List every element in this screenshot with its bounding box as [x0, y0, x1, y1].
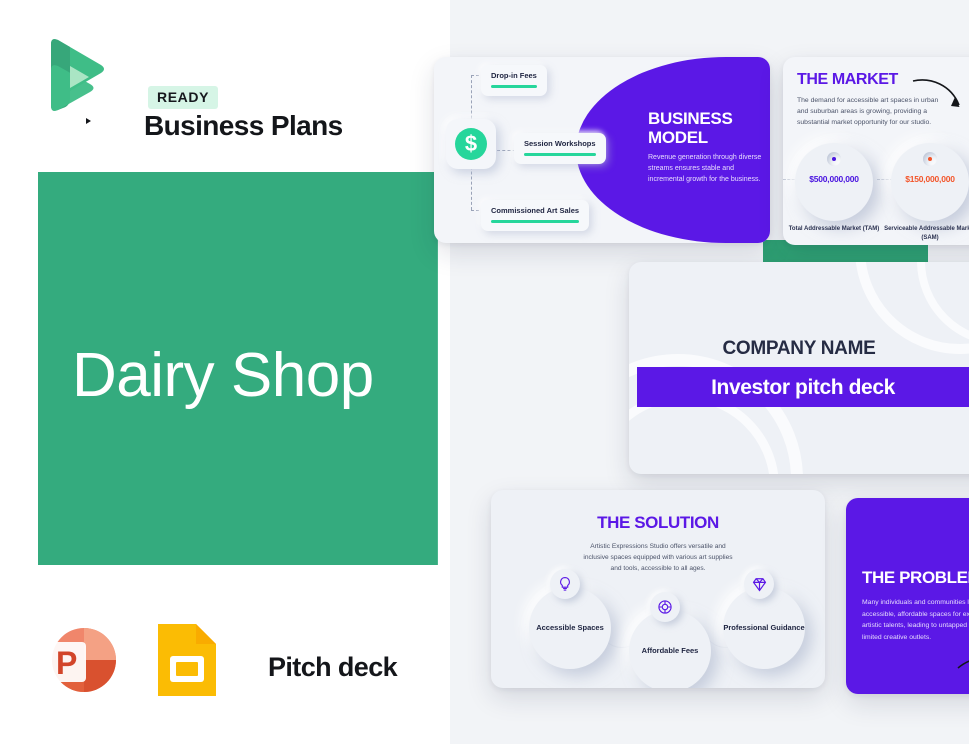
slide-card-company-name[interactable]: COMPANY NAME Investor pitch deck: [629, 262, 969, 474]
business-model-item-commissioned-art-sales[interactable]: Commissioned Art Sales: [481, 200, 589, 231]
market-caption-sam: Serviceable Addressable Market (SAM): [878, 225, 969, 242]
company-name-text: COMPANY NAME: [629, 338, 969, 360]
play-accent-icon: [86, 118, 91, 124]
dial-indicator-dot: [923, 152, 937, 166]
business-model-title: BUSINESS MODEL: [648, 109, 768, 147]
item-underline: [491, 85, 537, 88]
company-subtitle-bar: Investor pitch deck: [637, 367, 969, 407]
business-model-revenue-node: $: [446, 119, 496, 169]
solution-pillar-accessible-spaces[interactable]: Accessible Spaces: [529, 587, 611, 669]
market-dial-sam[interactable]: $150,000,000: [891, 143, 969, 221]
solution-title: THE SOLUTION: [491, 513, 825, 533]
slide-card-the-market[interactable]: THE MARKET The demand for accessible art…: [783, 57, 969, 245]
slide-card-the-solution[interactable]: THE SOLUTION Artistic Expressions Studio…: [491, 490, 825, 688]
brand-name: Business Plans: [148, 110, 343, 142]
promo-canvas: Dairy Shop READY Business Plans: [0, 0, 969, 744]
solution-body: Artistic Expressions Studio offers versa…: [581, 541, 735, 575]
solution-pillar-professional-guidance[interactable]: Professional Guidance: [723, 587, 805, 669]
slide-card-the-problem[interactable]: THE PROBLEM Many individuals and communi…: [846, 498, 969, 694]
curved-arrow-icon: [956, 650, 969, 680]
market-dial-tam[interactable]: $500,000,000: [795, 143, 873, 221]
ready-badge: READY: [148, 86, 218, 109]
lifebuoy-icon: [650, 592, 680, 622]
dial-indicator-dot: [827, 152, 841, 166]
lightbulb-icon: [550, 569, 580, 599]
solution-pillar-affordable-fees[interactable]: Affordable Fees: [629, 610, 711, 688]
problem-title: THE PROBLEM: [862, 568, 969, 588]
play-triangle-logo: [40, 36, 108, 116]
market-title: THE MARKET: [797, 71, 898, 89]
powerpoint-icon: P: [40, 618, 124, 702]
company-subtitle-text: Investor pitch deck: [637, 376, 969, 400]
problem-body: Many individuals and communities lack ac…: [862, 597, 969, 643]
business-model-body: Revenue generation through diverse strea…: [648, 153, 764, 186]
google-slides-icon: [154, 622, 220, 698]
page-title: Dairy Shop: [72, 340, 374, 411]
item-underline: [524, 153, 596, 156]
item-underline: [491, 220, 579, 223]
curved-arrow-icon: [911, 75, 969, 117]
business-model-item-drop-in-fees[interactable]: Drop-in Fees: [481, 65, 547, 96]
brand-lockup: READY Business Plans: [40, 36, 350, 118]
business-model-item-session-workshops[interactable]: Session Workshops: [514, 133, 606, 164]
market-caption-tam: Total Addressable Market (TAM): [783, 225, 886, 234]
format-label: Pitch deck: [268, 652, 397, 683]
dollar-sign-icon: $: [455, 128, 487, 160]
brand-name-text: Business Plans: [144, 110, 343, 141]
svg-text:P: P: [56, 645, 77, 681]
diamond-icon: [744, 569, 774, 599]
